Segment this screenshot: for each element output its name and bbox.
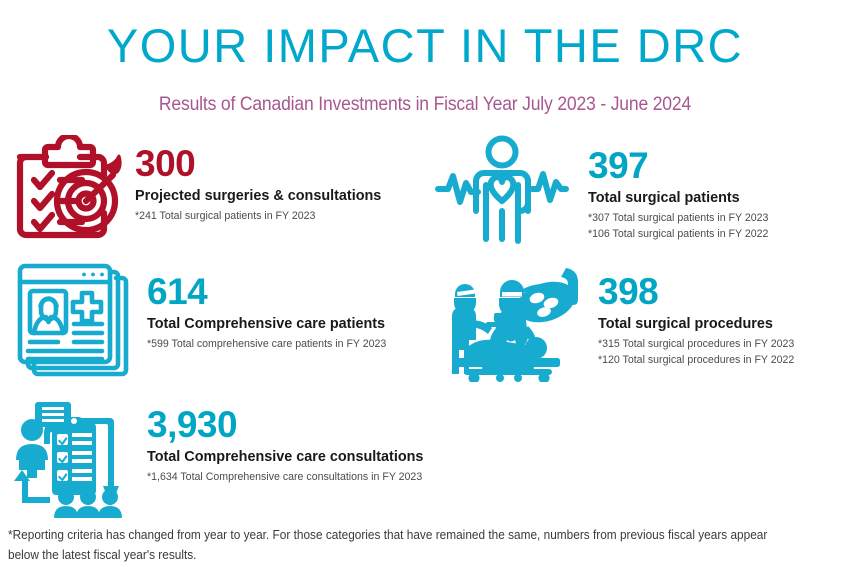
stat-note: *1,634 Total Comprehensive care consulta…: [147, 470, 482, 485]
patient-heartbeat-icon: [432, 135, 572, 252]
stat-card-comprehensive-care-consultations: 3,930 Total Comprehensive care consultat…: [12, 398, 482, 523]
header: YOUR IMPACT IN THE DRC Results of Canadi…: [0, 0, 850, 115]
stat-note: *315 Total surgical procedures in FY 202…: [598, 337, 850, 352]
stat-note: *307 Total surgical patients in FY 2023: [588, 211, 850, 226]
stat-label: Projected surgeries & consultations: [135, 188, 432, 205]
stat-body: 398 Total surgical procedures *315 Total…: [598, 262, 850, 368]
stat-note: *120 Total surgical procedures in FY 202…: [598, 353, 850, 368]
clipboard-target-icon: [12, 135, 127, 250]
page-title: YOUR IMPACT IN THE DRC: [0, 22, 850, 69]
footnote: *Reporting criteria has changed from yea…: [8, 526, 771, 565]
stat-label: Total Comprehensive care consultations: [147, 449, 482, 466]
stat-note: *599 Total comprehensive care patients i…: [147, 337, 432, 352]
consultation-checklist-people-icon: [12, 398, 137, 523]
stat-label: Total surgical procedures: [598, 316, 850, 333]
stat-note: *106 Total surgical patients in FY 2022: [588, 227, 850, 242]
stat-number: 3,930: [147, 406, 482, 444]
stat-number: 398: [598, 273, 850, 311]
page-subtitle: Results of Canadian Investments in Fisca…: [43, 95, 808, 115]
stat-body: 614 Total Comprehensive care patients *5…: [147, 262, 432, 353]
stat-label: Total surgical patients: [588, 190, 850, 207]
stat-number: 614: [147, 273, 432, 311]
stat-card-total-surgical-patients: 397 Total surgical patients *307 Total s…: [432, 135, 850, 252]
stat-card-total-surgical-procedures: 398 Total surgical procedures *315 Total…: [438, 262, 850, 387]
stat-body: 3,930 Total Comprehensive care consultat…: [147, 398, 482, 486]
stat-note: *241 Total surgical patients in FY 2023: [135, 209, 432, 224]
stat-number: 300: [135, 145, 432, 183]
stat-card-projected-surgeries: 300 Projected surgeries & consultations …: [12, 135, 432, 250]
stat-card-comprehensive-care-patients: 614 Total Comprehensive care patients *5…: [12, 262, 432, 385]
stat-body: 300 Projected surgeries & consultations …: [135, 135, 432, 225]
stat-body: 397 Total surgical patients *307 Total s…: [588, 135, 850, 242]
patient-record-card-icon: [12, 262, 137, 385]
operating-room-icon: [438, 262, 588, 387]
stat-number: 397: [588, 147, 850, 185]
infographic-page: YOUR IMPACT IN THE DRC Results of Canadi…: [0, 0, 850, 567]
stat-label: Total Comprehensive care patients: [147, 316, 432, 333]
